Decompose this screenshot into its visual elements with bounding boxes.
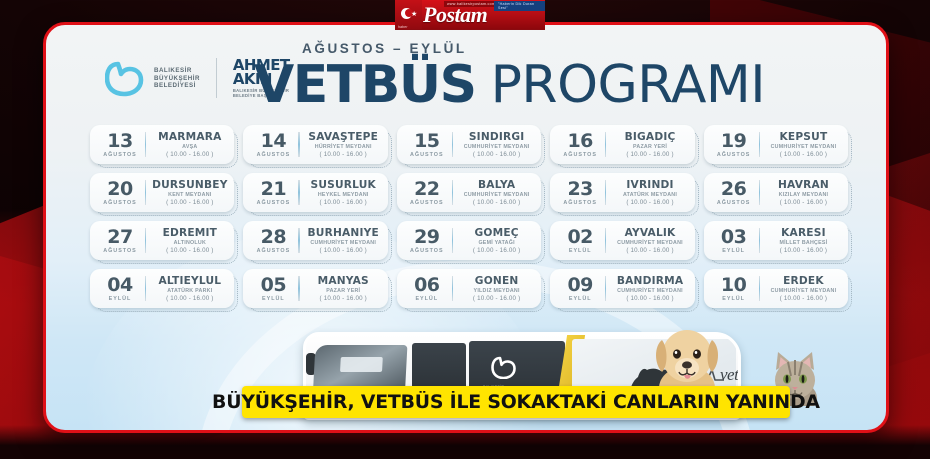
municipality-name: BALIKESİR BÜYÜKŞEHİR BELEDİYESİ (154, 67, 200, 90)
turkish-flag-icon: ★ haber (395, 0, 422, 30)
schedule-card[interactable]: 06EYLÜLGÖNENYILDIZ MEYDANI( 10.00 - 16.0… (397, 269, 541, 308)
municipality-line-1: BALIKESİR (154, 67, 200, 75)
schedule-date: 15AĞUSTOS (404, 132, 450, 158)
schedule-card-divider (605, 132, 606, 157)
schedule-day-number: 10 (711, 276, 757, 295)
schedule-month: EYLÜL (557, 248, 603, 254)
schedule-hours: ( 10.00 - 16.00 ) (765, 247, 842, 254)
schedule-place: SINDIRGI (458, 132, 535, 143)
schedule-location: DURSUNBEYKENT MEYDANI( 10.00 - 16.00 ) (151, 180, 228, 206)
schedule-place: DURSUNBEY (151, 180, 228, 191)
schedule-hours: ( 10.00 - 16.00 ) (305, 247, 382, 254)
schedule-cell: 26AĞUSTOSHAVRANKIZILAY MEYDANI( 10.00 - … (704, 173, 848, 212)
schedule-card[interactable]: 04EYLÜLALTIEYLÜLATATÜRK PARKI( 10.00 - 1… (90, 269, 234, 308)
schedule-location: KEPSUTCUMHURİYET MEYDANI( 10.00 - 16.00 … (765, 132, 842, 158)
schedule-hours: ( 10.00 - 16.00 ) (151, 199, 228, 206)
schedule-location: EDREMİTALTINOLUK( 10.00 - 16.00 ) (151, 228, 228, 254)
schedule-card-divider (452, 132, 453, 157)
schedule-card[interactable]: 21AĞUSTOSSUSURLUKHEYKEL MEYDANI( 10.00 -… (243, 173, 387, 212)
schedule-venue: MİLLET BAHÇESİ (765, 240, 842, 246)
schedule-card-divider (605, 228, 606, 253)
balikesir-heart-logo-icon (105, 59, 145, 97)
schedule-location: BALYACUMHURİYET MEYDANI( 10.00 - 16.00 ) (458, 180, 535, 206)
schedule-location: ERDEKCUMHURİYET MEYDANI( 10.00 - 16.00 ) (765, 276, 842, 302)
headline-banner-text: BÜYÜKŞEHİR, VETBÜS İLE SOKAKTAKİ CANLARI… (212, 392, 820, 413)
schedule-place: SUSURLUK (305, 180, 382, 191)
schedule-day-number: 28 (250, 228, 296, 247)
schedule-day-number: 29 (404, 228, 450, 247)
schedule-card[interactable]: 02EYLÜLAYVALIKCUMHURİYET MEYDANI( 10.00 … (550, 221, 694, 260)
schedule-card-divider (145, 180, 146, 205)
schedule-cell: 04EYLÜLALTIEYLÜLATATÜRK PARKI( 10.00 - 1… (90, 269, 234, 308)
schedule-card[interactable]: 26AĞUSTOSHAVRANKIZILAY MEYDANI( 10.00 - … (704, 173, 848, 212)
schedule-date: 13AĞUSTOS (97, 132, 143, 158)
schedule-hours: ( 10.00 - 16.00 ) (458, 199, 535, 206)
schedule-date: 27AĞUSTOS (97, 228, 143, 254)
schedule-card-divider (298, 180, 299, 205)
schedule-card[interactable]: 23AĞUSTOSİVRİNDİATATÜRK MEYDANI( 10.00 -… (550, 173, 694, 212)
schedule-card[interactable]: 22AĞUSTOSBALYACUMHURİYET MEYDANI( 10.00 … (397, 173, 541, 212)
schedule-card[interactable]: 16AĞUSTOSBİGADİÇPAZAR YERİ( 10.00 - 16.0… (550, 125, 694, 164)
schedule-cell: 19AĞUSTOSKEPSUTCUMHURİYET MEYDANI( 10.00… (704, 125, 848, 164)
schedule-month: EYLÜL (557, 296, 603, 302)
schedule-date: 14AĞUSTOS (250, 132, 296, 158)
schedule-location: SUSURLUKHEYKEL MEYDANI( 10.00 - 16.00 ) (305, 180, 382, 206)
poster-header: BALIKESİR BÜYÜKŞEHİR BELEDİYESİ AHMET AK… (46, 25, 886, 121)
schedule-place: BALYA (458, 180, 535, 191)
schedule-month: AĞUSTOS (711, 152, 757, 158)
schedule-card-divider (452, 228, 453, 253)
schedule-card[interactable]: 15AĞUSTOSSINDIRGICUMHURİYET MEYDANI( 10.… (397, 125, 541, 164)
schedule-venue: CUMHURİYET MEYDANI (458, 144, 535, 150)
schedule-hours: ( 10.00 - 16.00 ) (151, 151, 228, 158)
schedule-card-divider (759, 180, 760, 205)
title-block: AĞUSTOS – EYLÜL VETBÜS PROGRAMI (254, 41, 868, 112)
schedule-cell: 09EYLÜLBANDIRMACUMHURİYET MEYDANI( 10.00… (550, 269, 694, 308)
schedule-place: AYVALIK (611, 228, 688, 239)
schedule-cell: 14AĞUSTOSSAVAŞTEPEHÜRRİYET MEYDANI( 10.0… (243, 125, 387, 164)
poster-kicker: AĞUSTOS – EYLÜL (302, 41, 868, 56)
schedule-venue: AVŞA (151, 144, 228, 150)
schedule-month: EYLÜL (97, 296, 143, 302)
schedule-cell: 02EYLÜLAYVALIKCUMHURİYET MEYDANI( 10.00 … (550, 221, 694, 260)
postam-slogan: "Haberin Dik Duran Sesi" (494, 1, 545, 11)
schedule-place: EDREMİT (151, 228, 228, 239)
schedule-location: ALTIEYLÜLATATÜRK PARKI( 10.00 - 16.00 ) (151, 276, 228, 302)
schedule-hours: ( 10.00 - 16.00 ) (458, 151, 535, 158)
schedule-month: AĞUSTOS (404, 152, 450, 158)
schedule-venue: GEMİ YATAĞI (458, 240, 535, 246)
schedule-place: BİGADİÇ (611, 132, 688, 143)
schedule-venue: ATATÜRK PARKI (151, 288, 228, 294)
bus-heart-logo-icon (491, 355, 517, 379)
schedule-month: EYLÜL (404, 296, 450, 302)
schedule-venue: KENT MEYDANI (151, 192, 228, 198)
postam-flag-label: haber (398, 25, 408, 29)
schedule-card-divider (759, 276, 760, 301)
schedule-month: AĞUSTOS (97, 248, 143, 254)
schedule-cell: 22AĞUSTOSBALYACUMHURİYET MEYDANI( 10.00 … (397, 173, 541, 212)
municipality-line-3: BELEDİYESİ (154, 82, 200, 90)
schedule-hours: ( 10.00 - 16.00 ) (611, 295, 688, 302)
schedule-card-divider (145, 132, 146, 157)
schedule-venue: PAZAR YERİ (305, 288, 382, 294)
schedule-day-number: 02 (557, 228, 603, 247)
schedule-grid: 13AĞUSTOSMARMARAAVŞA( 10.00 - 16.00 )14A… (90, 125, 848, 308)
schedule-hours: ( 10.00 - 16.00 ) (765, 199, 842, 206)
schedule-date: 02EYLÜL (557, 228, 603, 254)
schedule-day-number: 04 (97, 276, 143, 295)
schedule-hours: ( 10.00 - 16.00 ) (765, 151, 842, 158)
schedule-place: İVRİNDİ (611, 180, 688, 191)
schedule-location: BİGADİÇPAZAR YERİ( 10.00 - 16.00 ) (611, 132, 688, 158)
schedule-date: 16AĞUSTOS (557, 132, 603, 158)
schedule-venue: YILDIZ MEYDANI (458, 288, 535, 294)
schedule-card-divider (298, 132, 299, 157)
schedule-place: BURHANİYE (305, 228, 382, 239)
schedule-month: AĞUSTOS (250, 152, 296, 158)
schedule-location: AYVALIKCUMHURİYET MEYDANI( 10.00 - 16.00… (611, 228, 688, 254)
schedule-date: 28AĞUSTOS (250, 228, 296, 254)
schedule-month: EYLÜL (711, 248, 757, 254)
schedule-card-divider (298, 276, 299, 301)
schedule-place: ALTIEYLÜL (151, 276, 228, 287)
schedule-card[interactable]: 27AĞUSTOSEDREMİTALTINOLUK( 10.00 - 16.00… (90, 221, 234, 260)
schedule-card[interactable]: 29AĞUSTOSGÖMEÇGEMİ YATAĞI( 10.00 - 16.00… (397, 221, 541, 260)
schedule-day-number: 06 (404, 276, 450, 295)
schedule-card-divider (605, 180, 606, 205)
schedule-day-number: 27 (97, 228, 143, 247)
schedule-place: HAVRAN (765, 180, 842, 191)
schedule-venue: CUMHURİYET MEYDANI (305, 240, 382, 246)
municipality-line-2: BÜYÜKŞEHİR (154, 75, 200, 83)
schedule-card[interactable]: 19AĞUSTOSKEPSUTCUMHURİYET MEYDANI( 10.00… (704, 125, 848, 164)
schedule-hours: ( 10.00 - 16.00 ) (611, 151, 688, 158)
schedule-venue: HÜRRİYET MEYDANI (305, 144, 382, 150)
schedule-venue: KIZILAY MEYDANI (765, 192, 842, 198)
schedule-date: 20AĞUSTOS (97, 180, 143, 206)
schedule-month: AĞUSTOS (97, 152, 143, 158)
page-title: VETBÜS PROGRAMI (254, 58, 868, 112)
schedule-location: MARMARAAVŞA( 10.00 - 16.00 ) (151, 132, 228, 158)
schedule-date: 06EYLÜL (404, 276, 450, 302)
schedule-day-number: 22 (404, 180, 450, 199)
schedule-location: BURHANİYECUMHURİYET MEYDANI( 10.00 - 16.… (305, 228, 382, 254)
schedule-venue: CUMHURİYET MEYDANI (765, 288, 842, 294)
schedule-hours: ( 10.00 - 16.00 ) (458, 295, 535, 302)
schedule-card-divider (605, 276, 606, 301)
schedule-card[interactable]: 20AĞUSTOSDURSUNBEYKENT MEYDANI( 10.00 - … (90, 173, 234, 212)
schedule-hours: ( 10.00 - 16.00 ) (305, 199, 382, 206)
postam-logo: ★ haber www.balikesirpostam.com.tr "Habe… (395, 0, 545, 30)
schedule-location: HAVRANKIZILAY MEYDANI( 10.00 - 16.00 ) (765, 180, 842, 206)
schedule-day-number: 21 (250, 180, 296, 199)
schedule-month: AĞUSTOS (711, 200, 757, 206)
schedule-date: 23AĞUSTOS (557, 180, 603, 206)
schedule-hours: ( 10.00 - 16.00 ) (151, 295, 228, 302)
schedule-location: SINDIRGICUMHURİYET MEYDANI( 10.00 - 16.0… (458, 132, 535, 158)
schedule-day-number: 26 (711, 180, 757, 199)
schedule-day-number: 20 (97, 180, 143, 199)
schedule-month: AĞUSTOS (404, 200, 450, 206)
schedule-place: MARMARA (151, 132, 228, 143)
schedule-place: GÖMEÇ (458, 228, 535, 239)
schedule-date: 29AĞUSTOS (404, 228, 450, 254)
schedule-venue: ALTINOLUK (151, 240, 228, 246)
schedule-day-number: 23 (557, 180, 603, 199)
schedule-month: AĞUSTOS (404, 248, 450, 254)
schedule-card-divider (452, 276, 453, 301)
schedule-hours: ( 10.00 - 16.00 ) (151, 247, 228, 254)
schedule-day-number: 03 (711, 228, 757, 247)
schedule-cell: 29AĞUSTOSGÖMEÇGEMİ YATAĞI( 10.00 - 16.00… (397, 221, 541, 260)
schedule-location: KARESİMİLLET BAHÇESİ( 10.00 - 16.00 ) (765, 228, 842, 254)
schedule-month: AĞUSTOS (250, 200, 296, 206)
schedule-cell: 21AĞUSTOSSUSURLUKHEYKEL MEYDANI( 10.00 -… (243, 173, 387, 212)
schedule-hours: ( 10.00 - 16.00 ) (611, 247, 688, 254)
schedule-place: GÖNEN (458, 276, 535, 287)
schedule-venue: ATATÜRK MEYDANI (611, 192, 688, 198)
schedule-venue: CUMHURİYET MEYDANI (765, 144, 842, 150)
star-icon: ★ (411, 11, 417, 18)
schedule-day-number: 15 (404, 132, 450, 151)
vetbus-poster: BALIKESİR BÜYÜKŞEHİR BELEDİYESİ AHMET AK… (43, 22, 889, 433)
schedule-card-divider (452, 180, 453, 205)
schedule-cell: 03EYLÜLKARESİMİLLET BAHÇESİ( 10.00 - 16.… (704, 221, 848, 260)
schedule-card-divider (145, 276, 146, 301)
schedule-location: İVRİNDİATATÜRK MEYDANI( 10.00 - 16.00 ) (611, 180, 688, 206)
schedule-date: 09EYLÜL (557, 276, 603, 302)
schedule-cell: 10EYLÜLERDEKCUMHURİYET MEYDANI( 10.00 - … (704, 269, 848, 308)
schedule-cell: 13AĞUSTOSMARMARAAVŞA( 10.00 - 16.00 ) (90, 125, 234, 164)
headline-banner: BÜYÜKŞEHİR, VETBÜS İLE SOKAKTAKİ CANLARI… (242, 386, 790, 418)
schedule-month: EYLÜL (250, 296, 296, 302)
schedule-location: SAVAŞTEPEHÜRRİYET MEYDANI( 10.00 - 16.00… (305, 132, 382, 158)
schedule-cell: 16AĞUSTOSBİGADİÇPAZAR YERİ( 10.00 - 16.0… (550, 125, 694, 164)
schedule-hours: ( 10.00 - 16.00 ) (611, 199, 688, 206)
schedule-day-number: 09 (557, 276, 603, 295)
schedule-cell: 06EYLÜLGÖNENYILDIZ MEYDANI( 10.00 - 16.0… (397, 269, 541, 308)
schedule-hours: ( 10.00 - 16.00 ) (458, 247, 535, 254)
schedule-cell: 27AĞUSTOSEDREMİTALTINOLUK( 10.00 - 16.00… (90, 221, 234, 260)
schedule-month: EYLÜL (711, 296, 757, 302)
schedule-cell: 28AĞUSTOSBURHANİYECUMHURİYET MEYDANI( 10… (243, 221, 387, 260)
screenshot-root: ★ haber www.balikesirpostam.com.tr "Habe… (0, 0, 930, 459)
schedule-location: GÖNENYILDIZ MEYDANI( 10.00 - 16.00 ) (458, 276, 535, 302)
schedule-day-number: 13 (97, 132, 143, 151)
schedule-card[interactable]: 03EYLÜLKARESİMİLLET BAHÇESİ( 10.00 - 16.… (704, 221, 848, 260)
schedule-place: BANDIRMA (611, 276, 688, 287)
schedule-month: AĞUSTOS (557, 152, 603, 158)
schedule-hours: ( 10.00 - 16.00 ) (765, 295, 842, 302)
schedule-location: MANYASPAZAR YERİ( 10.00 - 16.00 ) (305, 276, 382, 302)
schedule-venue: PAZAR YERİ (611, 144, 688, 150)
schedule-place: SAVAŞTEPE (305, 132, 382, 143)
schedule-day-number: 14 (250, 132, 296, 151)
schedule-place: ERDEK (765, 276, 842, 287)
schedule-day-number: 05 (250, 276, 296, 295)
schedule-month: AĞUSTOS (250, 248, 296, 254)
postam-wordmark: Postam (423, 4, 487, 26)
schedule-date: 21AĞUSTOS (250, 180, 296, 206)
schedule-card[interactable]: 10EYLÜLERDEKCUMHURİYET MEYDANI( 10.00 - … (704, 269, 848, 308)
schedule-card-divider (145, 228, 146, 253)
schedule-venue: HEYKEL MEYDANI (305, 192, 382, 198)
schedule-card-divider (298, 228, 299, 253)
schedule-card[interactable]: 13AĞUSTOSMARMARAAVŞA( 10.00 - 16.00 ) (90, 125, 234, 164)
schedule-date: 19AĞUSTOS (711, 132, 757, 158)
schedule-place: KEPSUT (765, 132, 842, 143)
schedule-date: 22AĞUSTOS (404, 180, 450, 206)
schedule-cell: 15AĞUSTOSSINDIRGICUMHURİYET MEYDANI( 10.… (397, 125, 541, 164)
schedule-date: 05EYLÜL (250, 276, 296, 302)
schedule-venue: CUMHURİYET MEYDANI (611, 240, 688, 246)
schedule-card[interactable]: 09EYLÜLBANDIRMACUMHURİYET MEYDANI( 10.00… (550, 269, 694, 308)
schedule-date: 26AĞUSTOS (711, 180, 757, 206)
schedule-venue: CUMHURİYET MEYDANI (611, 288, 688, 294)
schedule-card-divider (759, 132, 760, 157)
schedule-card[interactable]: 05EYLÜLMANYASPAZAR YERİ( 10.00 - 16.00 ) (243, 269, 387, 308)
schedule-venue: CUMHURİYET MEYDANI (458, 192, 535, 198)
title-light-part: PROGRAMI (491, 55, 766, 115)
schedule-place: MANYAS (305, 276, 382, 287)
schedule-location: BANDIRMACUMHURİYET MEYDANI( 10.00 - 16.0… (611, 276, 688, 302)
schedule-cell: 05EYLÜLMANYASPAZAR YERİ( 10.00 - 16.00 ) (243, 269, 387, 308)
postam-logo-right: www.balikesirpostam.com.tr "Haberin Dik … (422, 0, 545, 30)
schedule-card[interactable]: 28AĞUSTOSBURHANİYECUMHURİYET MEYDANI( 10… (243, 221, 387, 260)
schedule-cell: 20AĞUSTOSDURSUNBEYKENT MEYDANI( 10.00 - … (90, 173, 234, 212)
schedule-date: 10EYLÜL (711, 276, 757, 302)
schedule-hours: ( 10.00 - 16.00 ) (305, 151, 382, 158)
schedule-date: 03EYLÜL (711, 228, 757, 254)
schedule-day-number: 16 (557, 132, 603, 151)
logo-divider (216, 58, 217, 98)
schedule-day-number: 19 (711, 132, 757, 151)
schedule-cell: 23AĞUSTOSİVRİNDİATATÜRK MEYDANI( 10.00 -… (550, 173, 694, 212)
schedule-location: GÖMEÇGEMİ YATAĞI( 10.00 - 16.00 ) (458, 228, 535, 254)
schedule-hours: ( 10.00 - 16.00 ) (305, 295, 382, 302)
schedule-place: KARESİ (765, 228, 842, 239)
title-bold-part: VETBÜS (254, 55, 476, 115)
schedule-month: AĞUSTOS (97, 200, 143, 206)
schedule-month: AĞUSTOS (557, 200, 603, 206)
schedule-card-divider (759, 228, 760, 253)
schedule-card[interactable]: 14AĞUSTOSSAVAŞTEPEHÜRRİYET MEYDANI( 10.0… (243, 125, 387, 164)
schedule-date: 04EYLÜL (97, 276, 143, 302)
